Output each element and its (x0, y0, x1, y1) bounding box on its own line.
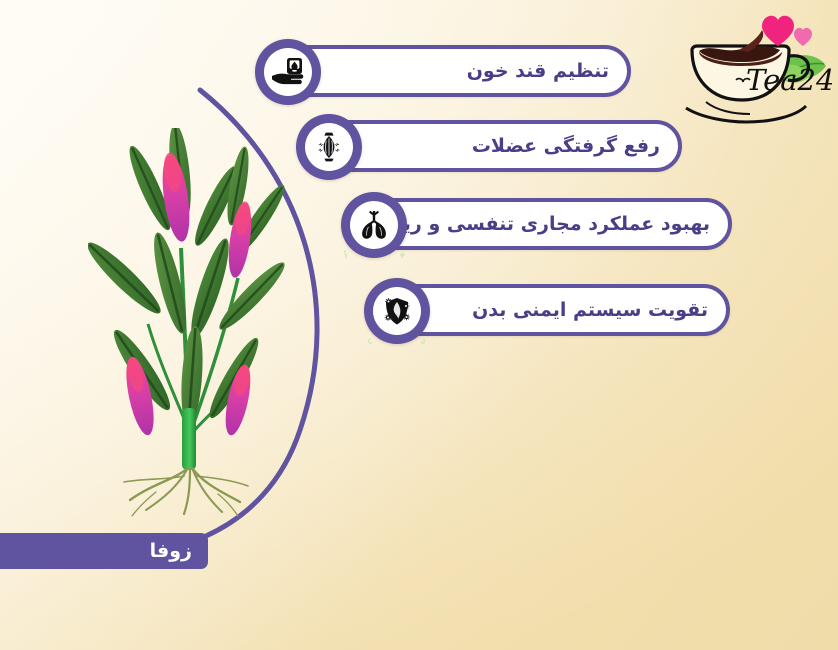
benefit-badge[interactable]: رفع گرفتگی عضلات (296, 114, 362, 180)
benefit-row[interactable]: تقویت سیستم ایمنی بدن (364, 278, 764, 344)
benefit-badge[interactable]: تنظیم قند خون (255, 39, 321, 105)
benefit-row[interactable]: بهبود عملکرد مجاری تنفسی و ریه (341, 192, 741, 258)
benefit-pill[interactable]: تقویت سیستم ایمنی بدن (410, 284, 730, 336)
benefit-pill[interactable]: رفع گرفتگی عضلات (342, 120, 682, 172)
svg-text:رفع گرفتگی عضلات: رفع گرفتگی عضلات (300, 177, 357, 180)
infographic-canvas: تنظیم قند خون تنظیم قند خون (0, 0, 838, 650)
ring-label: تقویت سیستم ایمنی بدن (367, 338, 427, 344)
benefit-badge[interactable]: تقویت سیستم ایمنی بدن (364, 278, 430, 344)
benefit-label: بهبود عملکرد مجاری تنفسی و ریه (392, 215, 710, 234)
svg-text:بهبود عملکرد مجاری تنفسی: بهبود عملکرد مجاری تنفسی (341, 192, 405, 258)
benefit-badge[interactable]: بهبود عملکرد مجاری تنفسی (341, 192, 407, 258)
benefit-pill[interactable]: تنظیم قند خون (301, 45, 631, 97)
benefit-pill[interactable]: بهبود عملکرد مجاری تنفسی و ریه (387, 198, 732, 250)
hyssop-plant-illustration (88, 128, 298, 518)
logo-brand-text: Tea24.ir (746, 63, 832, 97)
ring-label: رفع گرفتگی عضلات (300, 177, 357, 180)
badge-ring-text: رفع گرفتگی عضلات (296, 114, 362, 180)
plant-name-banner: زوفا (0, 533, 208, 569)
benefit-label: تنظیم قند خون (467, 62, 609, 81)
svg-text:تقویت سیستم ایمنی بدن: تقویت سیستم ایمنی بدن (367, 338, 427, 344)
benefit-row[interactable]: رفع گرفتگی عضلات (296, 114, 696, 180)
plant-name-label: زوفا (150, 542, 192, 561)
benefit-label: رفع گرفتگی عضلات (472, 137, 660, 156)
ring-label: بهبود عملکرد مجاری تنفسی (341, 192, 405, 258)
badge-ring-text: تقویت سیستم ایمنی بدن (364, 278, 430, 344)
teacup-with-hearts-and-leaf-logo[interactable]: Tea24.ir (676, 4, 832, 130)
badge-ring-text: بهبود عملکرد مجاری تنفسی (341, 192, 407, 258)
badge-ring-text: تنظیم قند خون (255, 39, 321, 105)
benefit-label: تقویت سیستم ایمنی بدن (472, 301, 708, 320)
benefit-row[interactable]: تنظیم قند خون تنظیم قند خون (255, 39, 655, 105)
